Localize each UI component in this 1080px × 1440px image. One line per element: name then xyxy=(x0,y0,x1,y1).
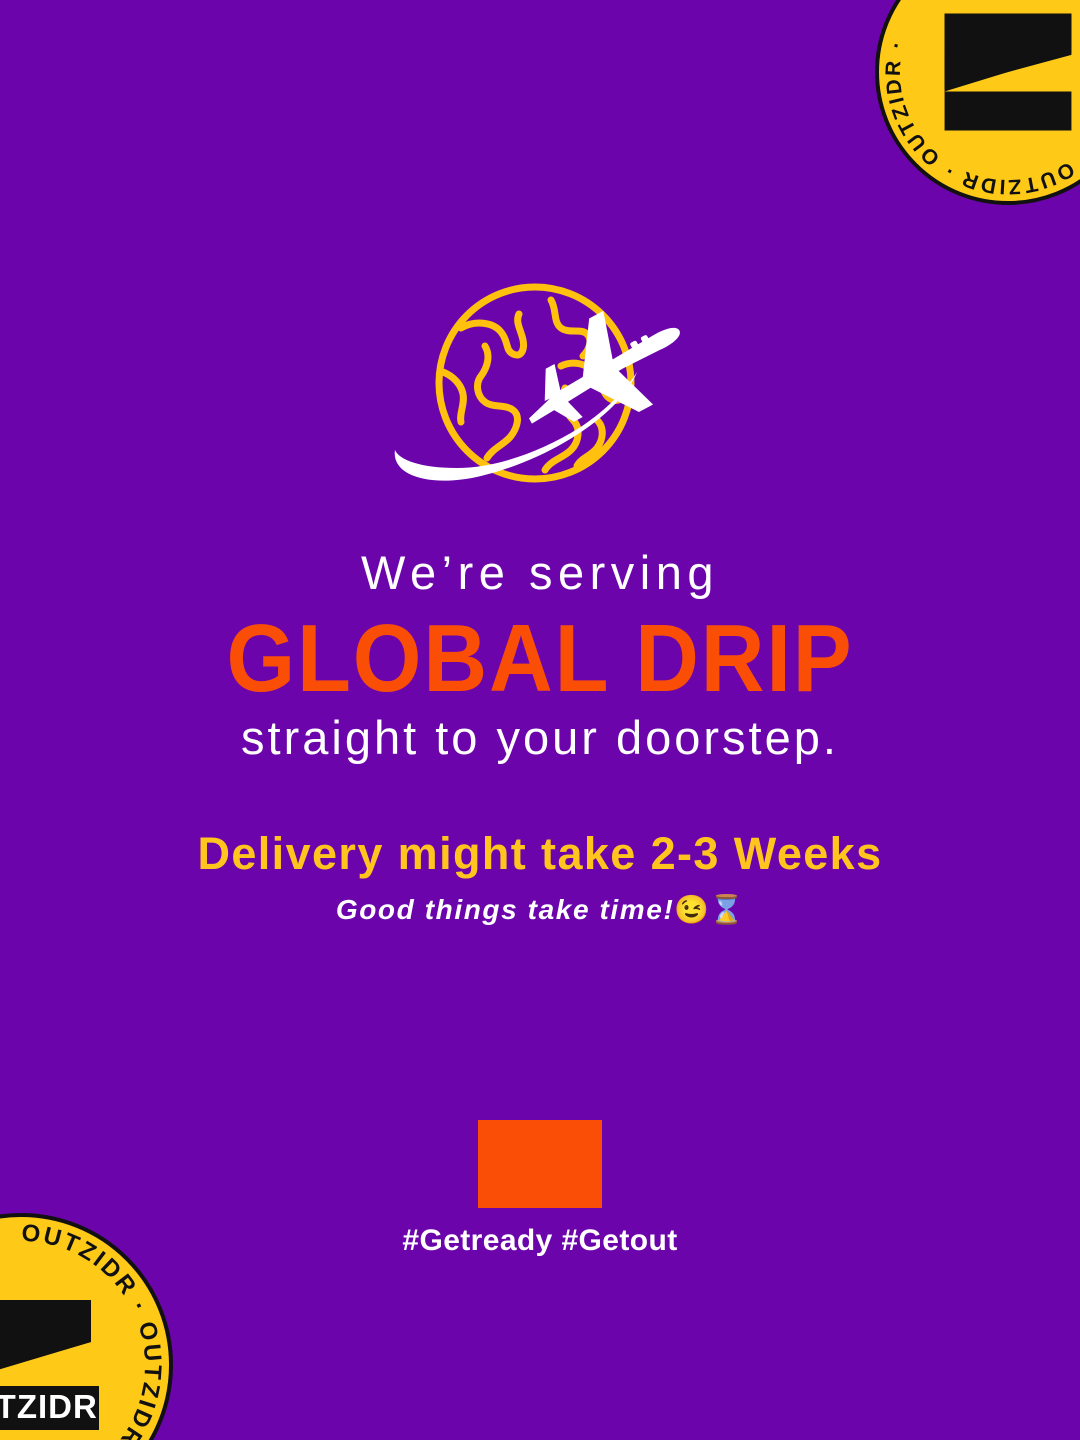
badge-wordmark: OUTZIDR xyxy=(0,1388,98,1425)
headline-text: GLOBAL DRIP xyxy=(43,611,1037,707)
badge-ring-text: OUTZIDR · OUTZIDR · OUTZIDR · OUTZIDR · xyxy=(882,0,1080,198)
reassurance-text: Good things take time! xyxy=(336,894,675,925)
z-logo-icon xyxy=(476,1118,604,1210)
delivery-note-text: Delivery might take 2-3 Weeks xyxy=(0,829,1080,879)
globe-icon xyxy=(365,280,715,505)
subhead-text: straight to your doorstep. xyxy=(0,713,1080,762)
globe-airplane-illustration xyxy=(365,280,715,505)
reassurance-emoji: 😉⌛ xyxy=(674,894,744,925)
z-logo-icon xyxy=(945,13,1072,130)
outzidr-seal-icon: OUTZIDR · OUTZIDR · OUTZIDR · OUTZIDR · xyxy=(874,0,1080,206)
hashtags-text: #Getready #Getout xyxy=(0,1224,1080,1258)
z-logo-icon: OUTZIDR xyxy=(0,1300,99,1430)
badge-top-right: OUTZIDR · OUTZIDR · OUTZIDR · OUTZIDR · xyxy=(874,0,1080,206)
main-copy-block: We’re serving GLOBAL DRIP straight to yo… xyxy=(0,548,1080,926)
poster-canvas: OUTZIDR · OUTZIDR · OUTZIDR · OUTZIDR · … xyxy=(0,0,1080,1440)
eyebrow-text: We’re serving xyxy=(0,548,1080,597)
footer-block: #Getready #Getout xyxy=(0,1118,1080,1258)
reassurance-line: Good things take time!😉⌛ xyxy=(0,895,1080,926)
svg-text:OUTZIDR · OUTZIDR · OUTZIDR ·: OUTZIDR · OUTZIDR · OUTZIDR · OUTZIDR · xyxy=(882,0,1080,198)
